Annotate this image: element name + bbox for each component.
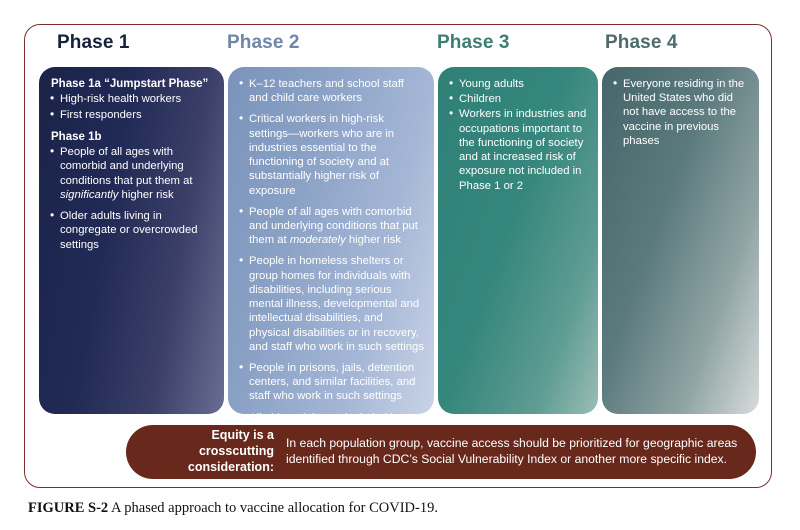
phase-3-panel: Young adultsChildrenWorkers in industrie… (438, 67, 598, 414)
phase-4-panel: Everyone residing in the United States w… (602, 67, 759, 414)
phase-1-panel: Phase 1a “Jumpstart Phase” High-risk hea… (39, 67, 224, 414)
phase-1a-list: High-risk health workersFirst responders (49, 92, 214, 121)
phase-3-header: Phase 3 (437, 32, 510, 54)
list-item: People in homeless shelters or group hom… (238, 254, 424, 354)
phase-1-header: Phase 1 (57, 32, 130, 54)
phase-4-list: Everyone residing in the United States w… (612, 77, 749, 148)
list-item: All older adults not included in Phase 1 (238, 411, 424, 414)
figure-caption: FIGURE S-2 A phased approach to vaccine … (28, 500, 438, 517)
phase-2-panel: K–12 teachers and school staff and child… (228, 67, 434, 414)
emphasis-text: significantly (60, 189, 118, 201)
emphasis-text: moderately (290, 234, 346, 246)
list-item: Workers in industries and occupations im… (448, 107, 588, 192)
list-item: Everyone residing in the United States w… (612, 77, 749, 148)
list-item: People of all ages with comorbid and und… (49, 145, 214, 202)
phase-3-list: Young adultsChildrenWorkers in industrie… (448, 77, 588, 193)
figure-caption-label: FIGURE S-2 (28, 500, 108, 516)
phase-1b-title: Phase 1b (51, 130, 214, 144)
list-item: Older adults living in congregate or ove… (49, 209, 214, 252)
figure-frame: Phase 1 Phase 2 Phase 3 Phase 4 Phase 1a… (24, 24, 772, 488)
phase-2-header: Phase 2 (227, 32, 300, 54)
phase-1a-title: Phase 1a “Jumpstart Phase” (51, 77, 214, 91)
equity-label: Equity is a crosscutting consideration: (136, 428, 286, 476)
list-item: First responders (49, 108, 214, 122)
list-item: People in prisons, jails, detention cent… (238, 361, 424, 404)
list-item: High-risk health workers (49, 92, 214, 106)
phase-1b-list: People of all ages with comorbid and und… (49, 145, 214, 252)
list-item: K–12 teachers and school staff and child… (238, 77, 424, 105)
equity-banner: Equity is a crosscutting consideration: … (126, 425, 756, 479)
list-item: Young adults (448, 77, 588, 91)
figure-caption-text: A phased approach to vaccine allocation … (111, 500, 438, 516)
equity-text: In each population group, vaccine access… (286, 436, 742, 468)
list-item: People of all ages with comorbid and und… (238, 205, 424, 248)
phase-4-header: Phase 4 (605, 32, 678, 54)
phase-2-list: K–12 teachers and school staff and child… (238, 77, 424, 414)
list-item: Critical workers in high-risk settings—w… (238, 112, 424, 197)
list-item: Children (448, 92, 588, 106)
phase-header-row: Phase 1 Phase 2 Phase 3 Phase 4 (25, 25, 771, 59)
